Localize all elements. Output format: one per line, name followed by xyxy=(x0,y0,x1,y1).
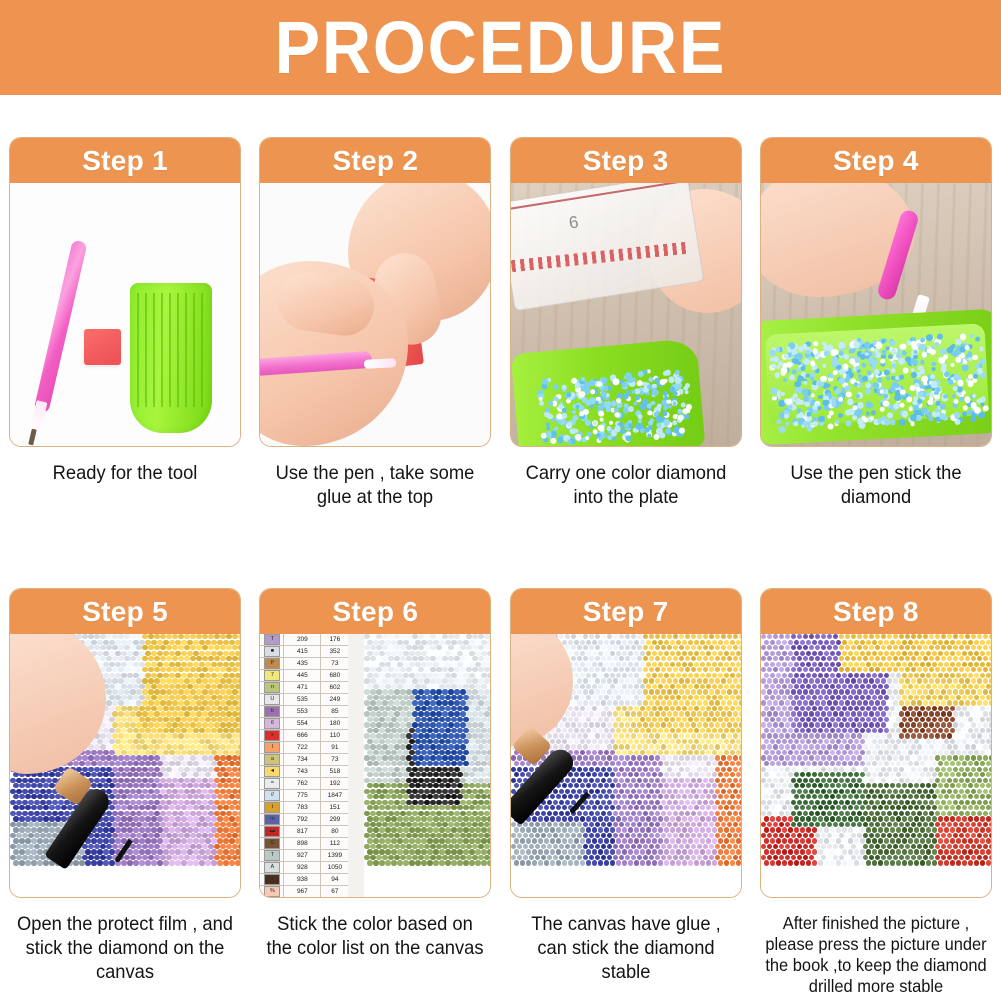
mosaic-drill xyxy=(115,761,120,766)
step-card-1[interactable]: Step 1 xyxy=(9,137,241,447)
mosaic-drill xyxy=(472,744,477,749)
mosaic-drill xyxy=(115,728,120,733)
mosaic-drill xyxy=(484,700,489,705)
mosaic-drill xyxy=(160,744,165,749)
mosaic-drill xyxy=(172,744,177,749)
mosaic-drill xyxy=(433,827,438,832)
mosaic-drill xyxy=(163,816,168,821)
mosaic-drill xyxy=(433,860,438,865)
mosaic-drill xyxy=(166,711,171,716)
mosaic-drill xyxy=(415,783,420,788)
mosaic-drill xyxy=(484,711,489,716)
mosaic-drill xyxy=(208,689,213,694)
mosaic-drill xyxy=(478,722,483,727)
mosaic-drill xyxy=(211,849,216,854)
mosaic-drill xyxy=(487,805,490,810)
diamond-bead xyxy=(632,401,637,406)
mosaic-drill xyxy=(436,722,441,727)
diamond-bead xyxy=(659,379,665,385)
mosaic-drill xyxy=(13,849,18,854)
mosaic-drill xyxy=(478,733,483,738)
mosaic-drill xyxy=(688,673,693,678)
mosaic-drill xyxy=(211,673,216,678)
mosaic-drill xyxy=(484,755,489,760)
mosaic-drill xyxy=(703,689,708,694)
mosaic-drill xyxy=(607,733,612,738)
mosaic-drill xyxy=(475,816,480,821)
mosaic-drill xyxy=(181,761,186,766)
mosaic-drill xyxy=(31,827,36,832)
mosaic-drill xyxy=(667,634,672,639)
mosaic-drill xyxy=(124,634,129,639)
mosaic-drill xyxy=(136,645,141,650)
mosaic-drill xyxy=(208,656,213,661)
mosaic-drill xyxy=(223,860,228,865)
diamond-bead xyxy=(934,408,939,413)
mosaic-drill xyxy=(175,783,180,788)
mosaic-drill xyxy=(448,755,453,760)
mosaic-drill xyxy=(142,678,147,683)
mosaic-drill xyxy=(442,722,447,727)
page-title: PROCEDURE xyxy=(275,11,727,85)
mosaic-drill xyxy=(238,634,240,639)
mosaic-drill xyxy=(739,733,741,738)
mosaic-drill xyxy=(229,860,234,865)
diamond-bead xyxy=(627,406,634,413)
mosaic-drill xyxy=(220,722,225,727)
mosaic-drill xyxy=(646,673,651,678)
diamond-bead xyxy=(619,428,625,434)
mosaic-drill xyxy=(586,673,591,678)
mosaic-drill xyxy=(655,678,660,683)
mosaic-drill xyxy=(196,711,201,716)
mosaic-drill xyxy=(667,678,672,683)
step-card-2[interactable]: Step 2 xyxy=(259,137,491,447)
mosaic-drill xyxy=(109,860,114,865)
mosaic-drill xyxy=(619,689,624,694)
mosaic-drill xyxy=(643,667,648,672)
mosaic-drill xyxy=(184,645,189,650)
mosaic-drill xyxy=(388,811,393,816)
mosaic-drill xyxy=(688,772,693,777)
mosaic-drill xyxy=(133,783,138,788)
diamond-bead xyxy=(961,411,967,417)
mosaic-drill xyxy=(613,634,618,639)
mosaic-drill xyxy=(220,744,225,749)
mosaic-drill xyxy=(421,805,426,810)
mosaic-drill xyxy=(739,645,741,650)
mosaic-drill xyxy=(139,827,144,832)
diamond-bead xyxy=(838,342,845,349)
mosaic-drill xyxy=(217,838,222,843)
mosaic-drill xyxy=(625,744,630,749)
mosaic-drill xyxy=(418,733,423,738)
mosaic-drill xyxy=(709,755,714,760)
mosaic-drill xyxy=(553,733,558,738)
color-swatch-icon: 7 xyxy=(264,670,280,681)
mosaic-drill xyxy=(667,733,672,738)
color-quantity: 176 xyxy=(320,634,348,645)
color-quantity: 110 xyxy=(320,730,348,741)
diamond-bead xyxy=(827,423,833,429)
color-swatch-icon: n xyxy=(264,682,280,693)
mosaic-drill xyxy=(163,761,168,766)
mosaic-drill xyxy=(412,689,417,694)
mosaic-drill xyxy=(601,755,606,760)
step-card-7[interactable]: Step 7 xyxy=(510,588,742,898)
mosaic-drill xyxy=(721,733,726,738)
mosaic-drill xyxy=(118,744,123,749)
diamond-bead xyxy=(607,386,612,391)
mosaic-drill xyxy=(169,849,174,854)
mosaic-drill xyxy=(637,656,642,661)
color-code: 817 xyxy=(283,826,320,837)
mosaic-drill xyxy=(214,811,219,816)
mosaic-drill xyxy=(202,811,207,816)
mosaic-drill xyxy=(121,673,126,678)
mosaic-drill xyxy=(421,761,426,766)
diamond-bead xyxy=(979,358,986,365)
mosaic-drill xyxy=(121,860,126,865)
mosaic-drill xyxy=(388,645,393,650)
mosaic-drill xyxy=(226,744,231,749)
mosaic-drill xyxy=(436,689,441,694)
diamond-bead xyxy=(776,419,781,424)
mosaic-drill xyxy=(202,645,207,650)
mosaic-drill xyxy=(190,634,195,639)
mosaic-drill xyxy=(181,728,186,733)
mosaic-drill xyxy=(370,634,375,639)
diamond-bead xyxy=(918,343,925,350)
diamond-bead xyxy=(589,404,594,409)
mosaic-drill xyxy=(448,744,453,749)
diamond-bead xyxy=(771,363,776,368)
mosaic-drill xyxy=(673,700,678,705)
mosaic-drill xyxy=(193,849,198,854)
mosaic-drill xyxy=(736,772,741,777)
mosaic-drill xyxy=(625,722,630,727)
mosaic-drill xyxy=(691,722,696,727)
mosaic-drill xyxy=(226,711,231,716)
mosaic-drill xyxy=(427,816,432,821)
mosaic-drill xyxy=(439,673,444,678)
mosaic-drill xyxy=(364,755,369,760)
mosaic-drill xyxy=(727,678,732,683)
mosaic-drill xyxy=(208,678,213,683)
mosaic-drill xyxy=(736,728,741,733)
mosaic-drill xyxy=(223,673,228,678)
mosaic-drill xyxy=(484,656,489,661)
color-swatch-icon: T xyxy=(264,634,280,645)
mosaic-drill xyxy=(106,711,111,716)
mosaic-drill xyxy=(469,783,474,788)
color-quantity: 112 xyxy=(320,838,348,849)
mosaic-drill xyxy=(634,783,639,788)
mosaic-drill xyxy=(163,805,168,810)
mosaic-drill xyxy=(481,838,486,843)
mosaic-drill xyxy=(478,744,483,749)
diamond-bead xyxy=(548,401,553,406)
mosaic-drill xyxy=(238,722,240,727)
diamond-bead xyxy=(950,363,955,368)
mosaic-drill xyxy=(379,816,384,821)
mosaic-drill xyxy=(649,700,654,705)
step-card-6[interactable]: Step 6 T209176■415352P435737445680n47160… xyxy=(259,588,491,898)
diamond-bead xyxy=(975,364,980,369)
mosaic-drill xyxy=(445,673,450,678)
diamond-bead xyxy=(910,421,915,426)
mosaic-drill xyxy=(148,711,153,716)
mosaic-drill xyxy=(193,673,198,678)
mosaic-drill xyxy=(649,711,654,716)
step-image-4 xyxy=(761,183,991,446)
mosaic-drill xyxy=(439,761,444,766)
mosaic-drill xyxy=(199,838,204,843)
mosaic-drill xyxy=(739,700,741,705)
mosaic-drill xyxy=(574,728,579,733)
mosaic-drill xyxy=(103,838,108,843)
mosaic-drill xyxy=(595,689,600,694)
diamond-bead xyxy=(656,422,661,427)
mosaic-drill xyxy=(640,772,645,777)
mosaic-drill xyxy=(79,849,84,854)
mosaic-drill xyxy=(139,838,144,843)
mosaic-drill xyxy=(178,656,183,661)
mosaic-drill xyxy=(460,700,465,705)
mosaic-drill xyxy=(388,744,393,749)
mosaic-drill xyxy=(664,772,669,777)
mosaic-drill xyxy=(430,656,435,661)
mosaic-drill xyxy=(514,761,519,766)
mosaic-drill xyxy=(598,728,603,733)
diamond-bead xyxy=(784,398,789,403)
mosaic-drill xyxy=(637,667,642,672)
mosaic-drill xyxy=(364,689,369,694)
mosaic-drill xyxy=(13,805,18,810)
mosaic-drill xyxy=(655,645,660,650)
mosaic-drill xyxy=(577,678,582,683)
mosaic-drill xyxy=(175,673,180,678)
mosaic-drill xyxy=(577,722,582,727)
mosaic-drill xyxy=(451,860,456,865)
mosaic-drill xyxy=(193,728,198,733)
mosaic-drill xyxy=(409,827,414,832)
mosaic-drill xyxy=(97,849,102,854)
mosaic-drill xyxy=(37,860,42,865)
mosaic-drill xyxy=(376,733,381,738)
mosaic-drill xyxy=(658,783,663,788)
diamond-bead xyxy=(849,358,855,364)
mosaic-drill xyxy=(475,772,480,777)
mosaic-drill xyxy=(451,805,456,810)
mosaic-drill xyxy=(607,755,612,760)
color-swatch-icon: 1 xyxy=(264,874,280,885)
diamond-bead xyxy=(588,379,595,386)
mosaic-drill xyxy=(571,645,576,650)
mosaic-drill xyxy=(610,772,615,777)
mosaic-drill xyxy=(112,678,117,683)
mosaic-drill xyxy=(424,656,429,661)
mosaic-drill xyxy=(601,733,606,738)
mosaic-drill xyxy=(700,728,705,733)
mosaic-drill xyxy=(232,700,237,705)
mosaic-drill xyxy=(169,827,174,832)
step-caption-5: Open the protect film , and stick the di… xyxy=(14,913,236,984)
color-code: 743 xyxy=(283,766,320,777)
step-card-3[interactable]: Step 3 6 xyxy=(510,137,742,447)
diamond-beads-group xyxy=(511,338,705,446)
mosaic-drill xyxy=(613,678,618,683)
mosaic-drill xyxy=(175,860,180,865)
mosaic-drill xyxy=(433,728,438,733)
mosaic-drill xyxy=(25,805,30,810)
mosaic-drill xyxy=(424,667,429,672)
mosaic-drill xyxy=(694,673,699,678)
mosaic-drill xyxy=(574,673,579,678)
mosaic-drill xyxy=(220,733,225,738)
mosaic-drill xyxy=(727,645,732,650)
mosaic-drill xyxy=(652,772,657,777)
mosaic-drill xyxy=(667,667,672,672)
mosaic-drill xyxy=(670,761,675,766)
mosaic-drill xyxy=(109,827,114,832)
mosaic-drill xyxy=(34,811,39,816)
mosaic-drill xyxy=(676,728,681,733)
mosaic-drill xyxy=(733,722,738,727)
step-card-5[interactable]: Step 5 xyxy=(9,588,241,898)
mosaic-drill xyxy=(130,733,135,738)
mosaic-drill xyxy=(421,860,426,865)
mosaic-drill xyxy=(658,673,663,678)
mosaic-drill xyxy=(568,728,573,733)
color-quantity: 73 xyxy=(320,658,348,669)
mosaic-drill xyxy=(460,811,465,816)
mosaic-drill xyxy=(583,678,588,683)
mosaic-drill xyxy=(88,755,93,760)
mosaic-drill xyxy=(391,816,396,821)
color-quantity: 299 xyxy=(320,814,348,825)
mosaic-drill xyxy=(457,805,462,810)
mosaic-drill xyxy=(214,744,219,749)
mosaic-drill xyxy=(163,728,168,733)
mosaic-drill xyxy=(427,849,432,854)
diamond-bead xyxy=(644,427,650,433)
mosaic-drill xyxy=(595,744,600,749)
diamond-bead xyxy=(838,413,843,418)
mosaic-drill xyxy=(415,772,420,777)
mosaic-drill xyxy=(400,656,405,661)
diamond-bead xyxy=(774,372,780,378)
mosaic-drill xyxy=(229,783,234,788)
mosaic-drill xyxy=(667,722,672,727)
mosaic-drill xyxy=(595,733,600,738)
mosaic-drill xyxy=(202,667,207,672)
step-card-4[interactable]: Step 4 xyxy=(760,137,992,447)
mosaic-drill xyxy=(715,700,720,705)
diamond-bead xyxy=(647,433,651,437)
diamond-bead xyxy=(684,390,688,394)
color-code: 535 xyxy=(283,694,320,705)
mosaic-drill xyxy=(679,744,684,749)
mosaic-drill xyxy=(196,645,201,650)
mosaic-drill xyxy=(394,667,399,672)
mosaic-drill xyxy=(709,678,714,683)
mosaic-drill xyxy=(475,805,480,810)
mosaic-drill xyxy=(193,783,198,788)
mosaic-drill xyxy=(604,728,609,733)
mosaic-drill xyxy=(226,733,231,738)
mosaic-drill xyxy=(442,733,447,738)
mosaic-drill xyxy=(388,711,393,716)
diamond-bead xyxy=(647,410,652,415)
mosaic-drill xyxy=(370,744,375,749)
mosaic-drill xyxy=(463,673,468,678)
mosaic-drill xyxy=(436,678,441,683)
mosaic-drill xyxy=(382,678,387,683)
mosaic-drill xyxy=(403,761,408,766)
mosaic-drill xyxy=(667,744,672,749)
mosaic-drill xyxy=(229,761,234,766)
mosaic-drill xyxy=(673,711,678,716)
mosaic-drill xyxy=(682,761,687,766)
mosaic-drill xyxy=(460,645,465,650)
mosaic-drill xyxy=(172,811,177,816)
mosaic-drill xyxy=(607,689,612,694)
diamond-bead xyxy=(546,426,551,431)
mosaic-drill xyxy=(211,860,216,865)
mosaic-drill xyxy=(190,811,195,816)
mosaic-drill xyxy=(424,811,429,816)
mosaic-drill xyxy=(697,733,702,738)
mosaic-drill xyxy=(205,794,210,799)
mosaic-drill xyxy=(667,645,672,650)
mosaic-drill xyxy=(637,700,642,705)
mosaic-drill xyxy=(13,816,18,821)
mosaic-drill xyxy=(112,755,117,760)
mosaic-drill xyxy=(580,728,585,733)
mosaic-drill xyxy=(124,678,129,683)
mosaic-drill xyxy=(442,711,447,716)
mosaic-drill xyxy=(127,805,132,810)
diamond-bead xyxy=(917,398,923,404)
mosaic-drill xyxy=(640,761,645,766)
diamond-bead xyxy=(947,347,953,353)
mosaic-drill xyxy=(655,700,660,705)
mosaic-drill xyxy=(115,805,120,810)
mosaic-drill xyxy=(685,733,690,738)
mosaic-drill xyxy=(475,761,480,766)
diamond-bead xyxy=(901,411,908,418)
mosaic-drill xyxy=(121,761,126,766)
mosaic-drill xyxy=(220,667,225,672)
mosaic-drill xyxy=(235,673,240,678)
color-quantity: 680 xyxy=(320,670,348,681)
mosaic-drill xyxy=(481,849,486,854)
diamond-bead xyxy=(968,410,973,415)
mosaic-drill xyxy=(208,811,213,816)
diamond-bead xyxy=(871,353,875,357)
mosaic-drill xyxy=(385,783,390,788)
mosaic-drill xyxy=(238,755,240,760)
mosaic-drill xyxy=(118,700,123,705)
mosaic-drill xyxy=(199,783,204,788)
mosaic-drill xyxy=(235,772,240,777)
mosaic-drill xyxy=(448,656,453,661)
mosaic-drill xyxy=(649,667,654,672)
mosaic-drill xyxy=(703,722,708,727)
mosaic-drill xyxy=(40,811,45,816)
mosaic-drill xyxy=(43,816,48,821)
